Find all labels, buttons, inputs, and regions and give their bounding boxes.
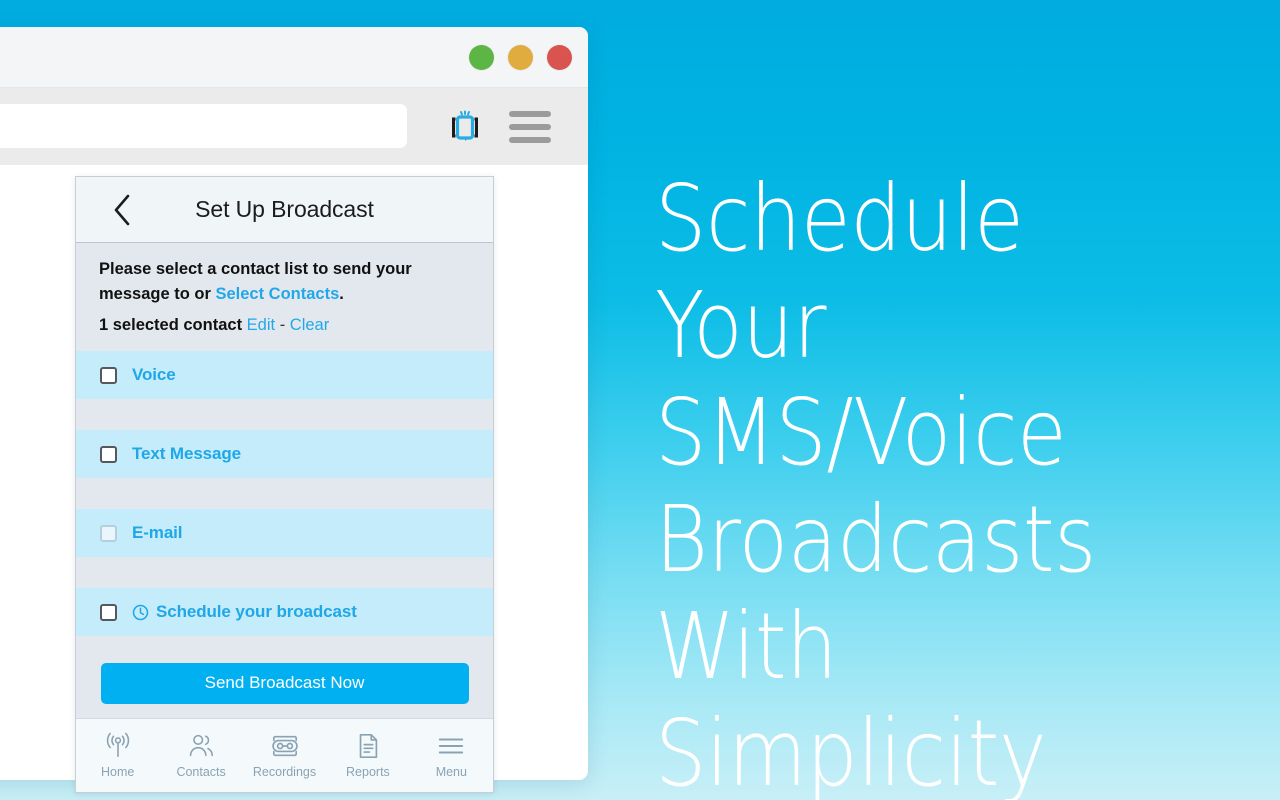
tab-reports[interactable]: Reports — [326, 732, 409, 779]
instructions-block: Please select a contact list to send you… — [76, 243, 493, 351]
send-button-area: Send Broadcast Now — [76, 636, 493, 718]
bottom-tab-bar: Home Contacts — [76, 718, 493, 792]
option-divider — [76, 399, 493, 430]
tab-label-reports: Reports — [346, 765, 390, 779]
clear-selection-link[interactable]: Clear — [290, 316, 329, 334]
tab-home[interactable]: Home — [76, 732, 159, 779]
option-divider — [76, 478, 493, 509]
broadcast-panel: Set Up Broadcast Please select a contact… — [75, 176, 494, 793]
window-minimize-button[interactable] — [469, 45, 494, 70]
edit-selection-link[interactable]: Edit — [247, 316, 275, 334]
chevron-left-icon — [111, 193, 133, 227]
instructions-text-after: . — [339, 285, 344, 303]
clock-icon — [132, 604, 149, 621]
voice-checkbox[interactable] — [100, 367, 117, 384]
hamburger-menu-icon[interactable] — [509, 108, 551, 146]
option-label-schedule: Schedule your broadcast — [132, 602, 357, 622]
email-checkbox[interactable] — [100, 525, 117, 542]
broadcast-antenna-icon — [103, 732, 133, 760]
tab-label-contacts: Contacts — [176, 765, 225, 779]
link-separator: - — [280, 316, 286, 334]
marketing-headline: Schedule Your SMS/Voice Broadcasts With … — [655, 165, 1183, 800]
browser-toolbar — [0, 88, 588, 165]
back-button[interactable] — [100, 177, 144, 242]
option-row-email[interactable]: E-mail — [76, 509, 493, 557]
selection-status: 1 selected contact Edit - Clear — [99, 316, 470, 335]
menu-bar-3 — [509, 137, 551, 143]
select-contacts-link[interactable]: Select Contacts — [215, 285, 339, 303]
tab-menu[interactable]: Menu — [410, 732, 493, 779]
tab-label-home: Home — [101, 765, 134, 779]
document-icon — [354, 732, 382, 760]
tab-contacts[interactable]: Contacts — [159, 732, 242, 779]
option-row-schedule[interactable]: Schedule your broadcast — [76, 588, 493, 636]
schedule-checkbox[interactable] — [100, 604, 117, 621]
option-row-voice[interactable]: Voice — [76, 351, 493, 399]
option-label-text-message: Text Message — [132, 444, 241, 464]
window-controls — [469, 45, 572, 70]
device-toggle-icon[interactable] — [443, 105, 487, 149]
url-input[interactable] — [0, 104, 407, 148]
tab-recordings[interactable]: Recordings — [243, 732, 326, 779]
browser-titlebar — [0, 27, 588, 88]
menu-bar-2 — [509, 124, 551, 130]
text-message-checkbox[interactable] — [100, 446, 117, 463]
option-label-email: E-mail — [132, 523, 182, 543]
instructions-text: Please select a contact list to send you… — [99, 257, 470, 306]
option-row-text-message[interactable]: Text Message — [76, 430, 493, 478]
option-label-voice: Voice — [132, 365, 176, 385]
tab-label-recordings: Recordings — [253, 765, 316, 779]
page-root: Schedule Your SMS/Voice Broadcasts With … — [0, 0, 1280, 800]
menu-bar-1 — [509, 111, 551, 117]
broadcast-options: Voice Text Message E-mail — [76, 351, 493, 636]
hamburger-menu-icon — [436, 732, 466, 760]
selected-count-text: 1 selected contact — [99, 316, 242, 334]
panel-header: Set Up Broadcast — [76, 177, 493, 243]
send-broadcast-button[interactable]: Send Broadcast Now — [101, 663, 469, 704]
option-label-schedule-text: Schedule your broadcast — [156, 602, 357, 622]
window-maximize-button[interactable] — [508, 45, 533, 70]
people-icon — [186, 732, 216, 760]
tab-label-menu: Menu — [436, 765, 467, 779]
window-close-button[interactable] — [547, 45, 572, 70]
option-divider — [76, 557, 493, 588]
tape-reel-icon — [269, 732, 301, 760]
